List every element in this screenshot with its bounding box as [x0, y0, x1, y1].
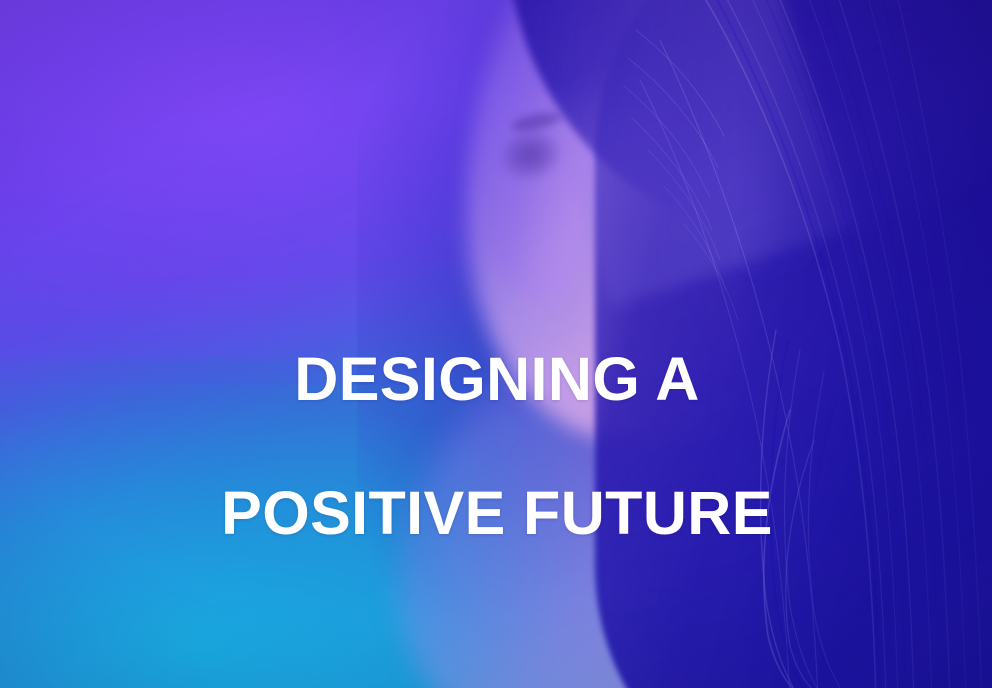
headline-line-2: POSITIVE FUTURE [0, 480, 992, 547]
hero-banner: DESIGNING A POSITIVE FUTURE [0, 0, 992, 688]
headline-line-1: DESIGNING A [0, 346, 992, 413]
page-title: DESIGNING A POSITIVE FUTURE [0, 279, 992, 614]
